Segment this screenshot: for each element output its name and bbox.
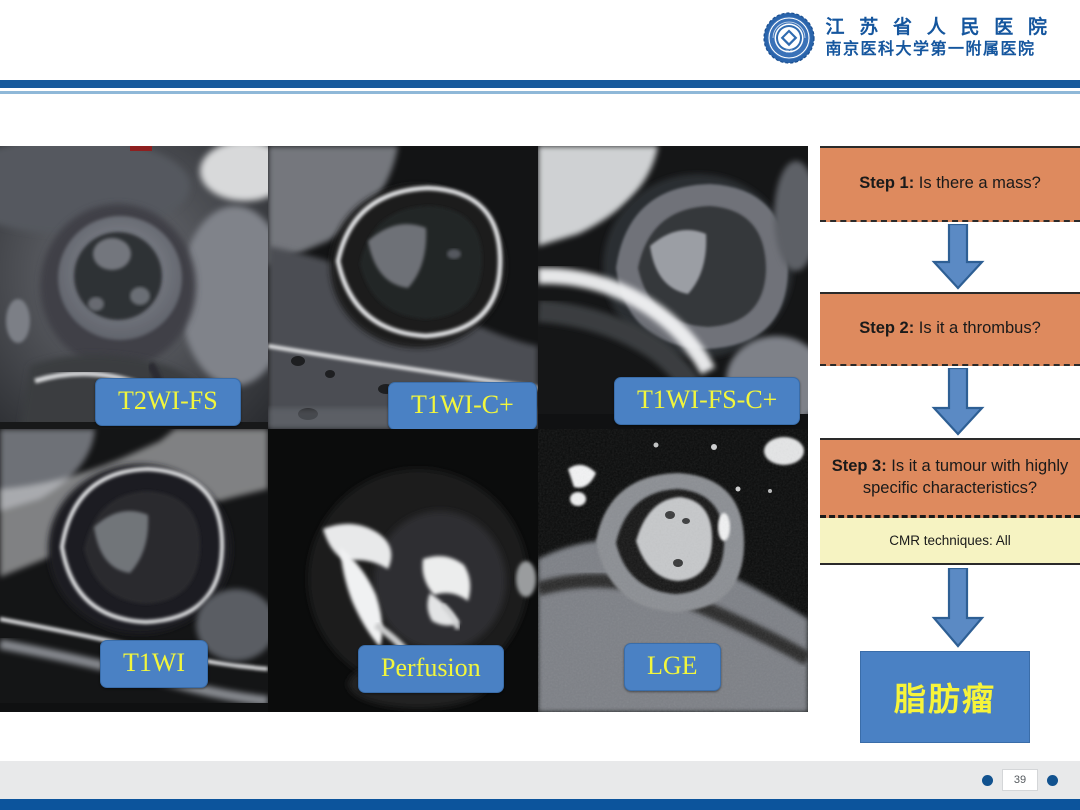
mri-label-t1wi: T1WI: [100, 640, 208, 688]
mri-panel-t1wi: T1WI: [0, 429, 268, 712]
step-1-question: Is there a mass?: [914, 174, 1041, 192]
cmr-techniques-text: CMR techniques: All: [889, 533, 1011, 548]
diagnosis-box: 脂肪瘤: [860, 651, 1030, 743]
prev-slide-dot[interactable]: [982, 775, 993, 786]
hospital-seal-icon: 1936: [763, 12, 815, 64]
header-rule-primary: [0, 80, 1080, 88]
mri-panel-t1wi-c-plus: T1WI-C+: [268, 146, 538, 429]
hospital-branding: 1936 江 苏 省 人 民 医 院 南京医科大学第一附属医院: [763, 12, 1052, 64]
mri-label-t1wi-c-plus: T1WI-C+: [388, 382, 537, 429]
mri-label-lge: LGE: [624, 643, 721, 691]
mri-panel-t2wi-fs: T2WI-FS: [0, 146, 268, 429]
mri-label-t2wi-fs: T2WI-FS: [95, 378, 241, 426]
down-arrow-icon-2: [930, 368, 986, 436]
mri-panel-t1wi-fs-c-plus: T1WI-FS-C+: [538, 146, 808, 429]
hospital-name-primary: 江 苏 省 人 民 医 院: [825, 17, 1052, 39]
mri-panel-lge: LGE: [538, 429, 808, 712]
svg-text:1936: 1936: [786, 50, 793, 54]
mri-panel-perfusion: Perfusion: [268, 429, 538, 712]
page-number: 39: [1002, 769, 1038, 791]
image-marker-tick: [130, 146, 152, 151]
down-arrow-icon-1: [930, 224, 986, 290]
diagnostic-flowchart: Step 1: Is there a mass? Step 2: Is it a…: [820, 146, 1080, 756]
down-arrow-icon-3: [930, 568, 986, 648]
cmr-image-grid: T2WI-FS T1WI-C+: [0, 146, 808, 712]
flow-step-3-note: CMR techniques: All: [820, 518, 1080, 565]
slide-header: 1936 江 苏 省 人 民 医 院 南京医科大学第一附属医院: [0, 0, 1080, 78]
mri-label-perfusion: Perfusion: [358, 645, 504, 693]
footer-accent-strip: [0, 799, 1080, 810]
header-rule-secondary: [0, 91, 1080, 94]
step-1-tag: Step 1:: [859, 174, 914, 192]
step-3-tag: Step 3:: [832, 457, 887, 475]
step-2-tag: Step 2:: [859, 319, 914, 337]
next-slide-dot[interactable]: [1047, 775, 1058, 786]
flow-step-1: Step 1: Is there a mass?: [820, 146, 1080, 222]
flow-step-2: Step 2: Is it a thrombus?: [820, 292, 1080, 366]
diagnosis-label: 脂肪瘤: [894, 674, 996, 720]
flow-step-3: Step 3: Is it a tumour with highly speci…: [820, 438, 1080, 518]
slide-footer: [0, 761, 1080, 799]
step-2-question: Is it a thrombus?: [914, 319, 1041, 337]
slide-navigation: 39: [982, 769, 1058, 791]
step-3-question: Is it a tumour with highly specific char…: [863, 457, 1068, 496]
hospital-name-block: 江 苏 省 人 民 医 院 南京医科大学第一附属医院: [825, 17, 1052, 59]
hospital-name-secondary: 南京医科大学第一附属医院: [825, 41, 1052, 59]
mri-label-t1wi-fs-c-plus: T1WI-FS-C+: [614, 377, 800, 425]
